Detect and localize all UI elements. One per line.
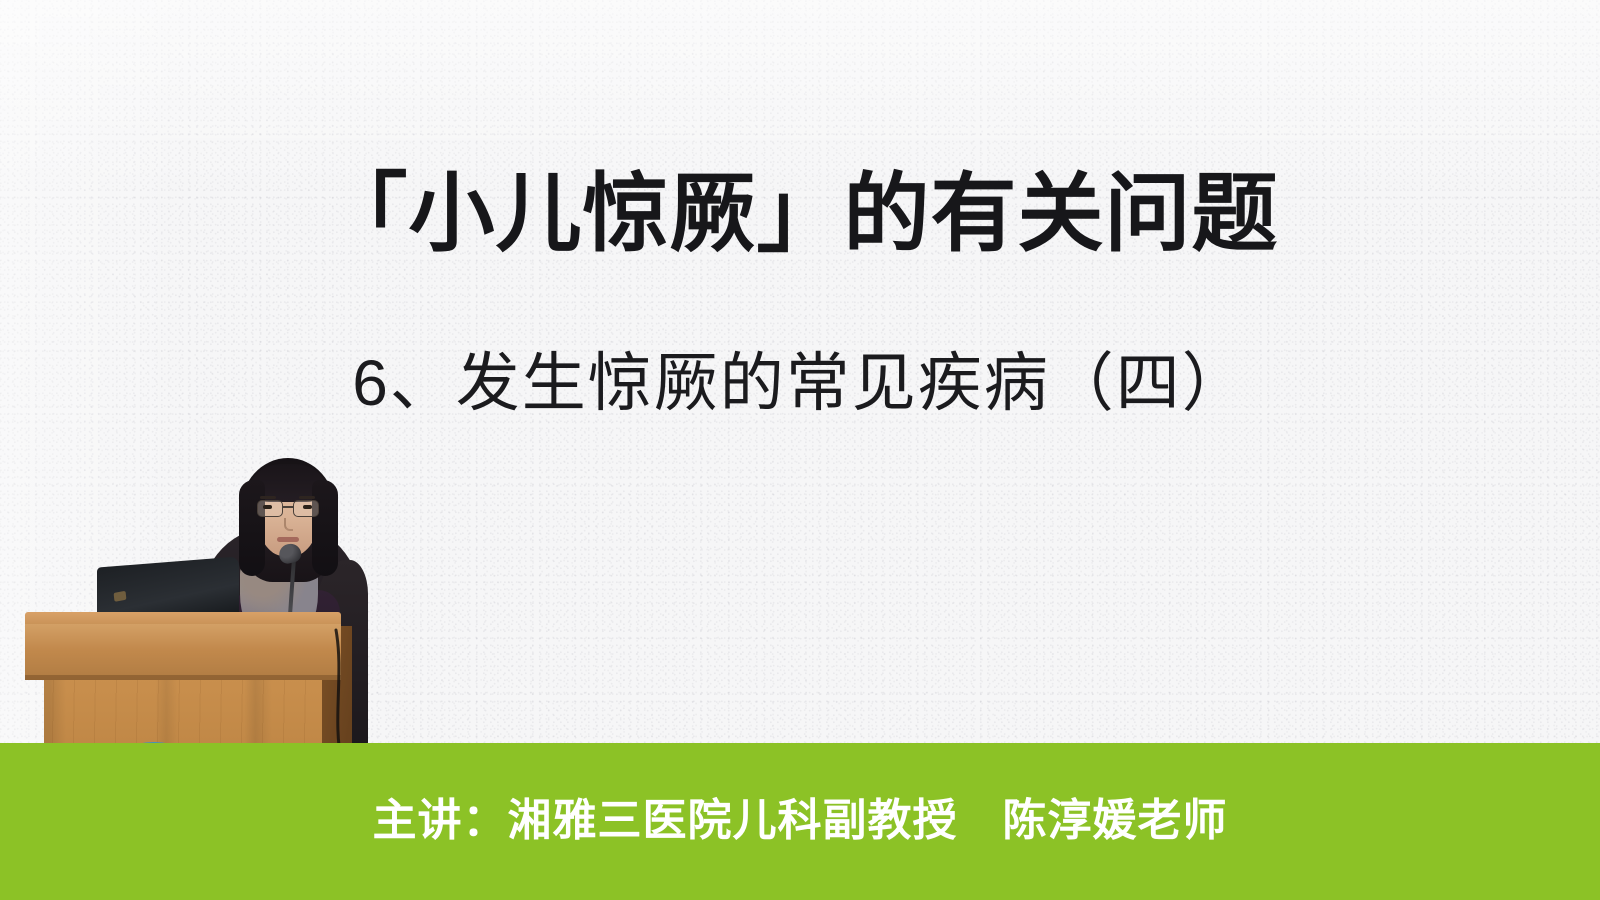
speaker-nose [284,518,293,531]
speaker-hair-left [239,480,265,576]
speaker-mouth [277,537,299,542]
lecture-title-slide: 「小儿惊厥」的有关问题 6、发生惊厥的常见疾病（四） [0,0,1600,900]
page-title: 「小儿惊厥」的有关问题 [0,168,1600,261]
speaker-eye-right [303,505,312,509]
page-subtitle: 6、发生惊厥的常见疾病（四） [0,348,1600,418]
podium-front-lip [25,624,341,680]
speaker-eye-left [263,505,272,509]
laptop-logo [114,591,127,602]
speaker-eyebrow-right [299,496,315,499]
speaker-eyebrow-left [260,496,276,499]
presenter-credit: 主讲：湘雅三医院儿科副教授 陈淳媛老师 [0,784,1600,848]
speaker-hair-right [312,480,338,576]
